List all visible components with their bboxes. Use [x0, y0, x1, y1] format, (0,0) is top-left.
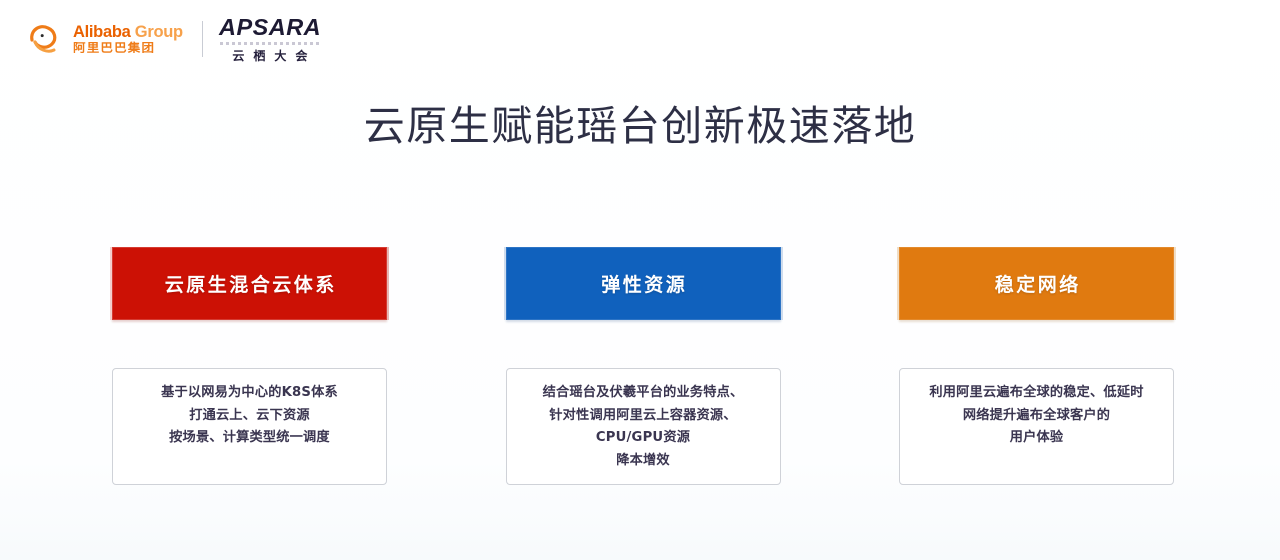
description-line: 利用阿里云遍布全球的稳定、低延时 — [929, 382, 1143, 405]
column-stable-network: 稳定网络 利用阿里云遍布全球的稳定、低延时 网络提升遍布全球客户的 用户体验 — [899, 247, 1174, 485]
alibaba-group-logo: Alibaba Group 阿里巴巴集团 — [26, 20, 183, 58]
column-hybrid-cloud: 云原生混合云体系 基于以网易为中心的K8S体系 打通云上、云下资源 按场景、计算… — [112, 247, 387, 485]
heading-box-elastic-resource: 弹性资源 — [506, 247, 781, 320]
description-line: CPU/GPU资源 — [596, 427, 690, 450]
slide-canvas: Alibaba Group 阿里巴巴集团 APSARA 云栖大会 云原生赋能瑶台… — [0, 0, 1280, 560]
description-line: 针对性调用阿里云上容器资源、 — [549, 405, 736, 428]
apsara-dashed-rule — [220, 42, 320, 45]
description-line: 网络提升遍布全球客户的 — [963, 405, 1110, 428]
alibaba-english-primary: Alibaba — [73, 23, 131, 41]
apsara-conference-logo: APSARA 云栖大会 — [220, 16, 320, 62]
heading-box-hybrid-cloud: 云原生混合云体系 — [112, 247, 387, 320]
alibaba-english-secondary: Group — [135, 23, 183, 41]
heading-label-elastic-resource: 弹性资源 — [599, 270, 688, 297]
description-line: 打通云上、云下资源 — [189, 405, 310, 428]
heading-label-hybrid-cloud: 云原生混合云体系 — [162, 270, 337, 297]
description-box-hybrid-cloud: 基于以网易为中心的K8S体系 打通云上、云下资源 按场景、计算类型统一调度 — [112, 368, 387, 485]
description-line: 结合瑶台及伏羲平台的业务特点、 — [543, 382, 744, 405]
brand-logo-bar: Alibaba Group 阿里巴巴集团 APSARA 云栖大会 — [26, 14, 320, 64]
heading-label-stable-network: 稳定网络 — [992, 270, 1081, 297]
description-line: 用户体验 — [1010, 427, 1064, 450]
feature-columns: 云原生混合云体系 基于以网易为中心的K8S体系 打通云上、云下资源 按场景、计算… — [112, 247, 1174, 485]
page-title: 云原生赋能瑶台创新极速落地 — [0, 92, 1280, 152]
description-line: 按场景、计算类型统一调度 — [169, 427, 330, 450]
description-box-elastic-resource: 结合瑶台及伏羲平台的业务特点、 针对性调用阿里云上容器资源、 CPU/GPU资源… — [506, 368, 781, 485]
description-box-stable-network: 利用阿里云遍布全球的稳定、低延时 网络提升遍布全球客户的 用户体验 — [899, 368, 1174, 485]
description-line: 基于以网易为中心的K8S体系 — [161, 382, 338, 405]
alibaba-smile-logo-icon — [26, 20, 66, 58]
alibaba-wordmark: Alibaba Group 阿里巴巴集团 — [73, 24, 183, 55]
alibaba-chinese-wordmark: 阿里巴巴集团 — [73, 43, 183, 55]
alibaba-english-wordmark: Alibaba Group — [73, 24, 183, 41]
column-elastic-resource: 弹性资源 结合瑶台及伏羲平台的业务特点、 针对性调用阿里云上容器资源、 CPU/… — [506, 247, 781, 485]
heading-box-stable-network: 稳定网络 — [899, 247, 1174, 320]
apsara-chinese-wordmark: 云栖大会 — [223, 50, 316, 62]
logo-divider — [202, 21, 203, 57]
apsara-english-wordmark: APSARA — [219, 16, 321, 39]
description-line: 降本增效 — [616, 450, 670, 473]
